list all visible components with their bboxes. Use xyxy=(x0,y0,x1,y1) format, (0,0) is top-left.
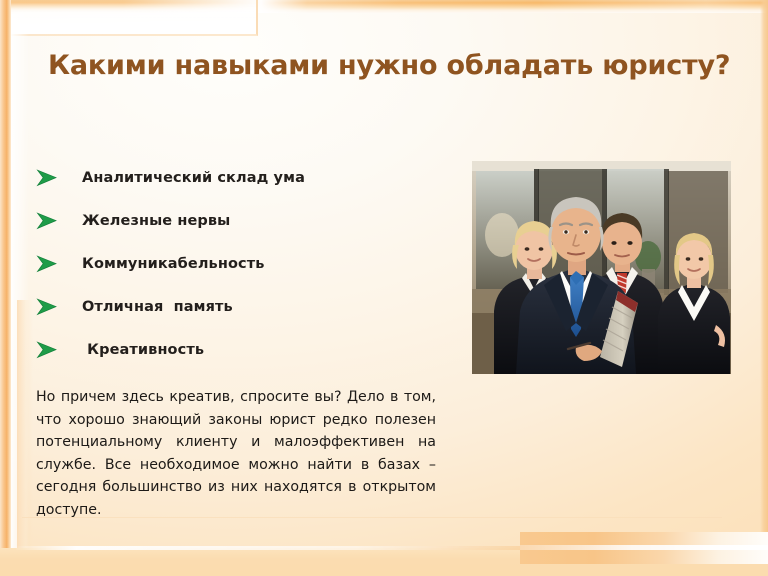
list-item: Отличная память xyxy=(36,287,436,327)
top-left-white-panel xyxy=(10,0,258,36)
left-border-glow xyxy=(17,300,33,562)
presentation-slide: Какими навыками нужно обладать юристу? А… xyxy=(0,0,768,576)
bottom-right-accent-highlight xyxy=(520,545,768,550)
list-item-label: Коммуникабельность xyxy=(82,256,264,272)
right-border-decoration xyxy=(760,0,768,576)
green-arrow-bullet-icon xyxy=(36,341,82,359)
list-item: Креативность xyxy=(36,330,436,370)
slide-title: Какими навыками нужно обладать юристу? xyxy=(48,50,728,81)
business-team-photo xyxy=(472,161,731,374)
list-item: Коммуникабельность xyxy=(36,244,436,284)
list-item: Аналитический склад ума xyxy=(36,158,436,198)
list-item-label: Отличная память xyxy=(82,299,233,315)
green-arrow-bullet-icon xyxy=(36,212,82,230)
list-item: Железные нервы xyxy=(36,201,436,241)
list-item-label: Аналитический склад ума xyxy=(82,170,305,186)
list-item-label: Креативность xyxy=(82,342,204,358)
green-arrow-bullet-icon xyxy=(36,255,82,273)
list-item-label: Железные нервы xyxy=(82,213,230,229)
green-arrow-bullet-icon xyxy=(36,169,82,187)
skills-list: Аналитический склад ума Железные нервы К… xyxy=(36,158,436,373)
body-paragraph: Но причем здесь креатив, спросите вы? Де… xyxy=(36,386,436,521)
green-arrow-bullet-icon xyxy=(36,298,82,316)
left-border-decoration xyxy=(0,0,11,576)
